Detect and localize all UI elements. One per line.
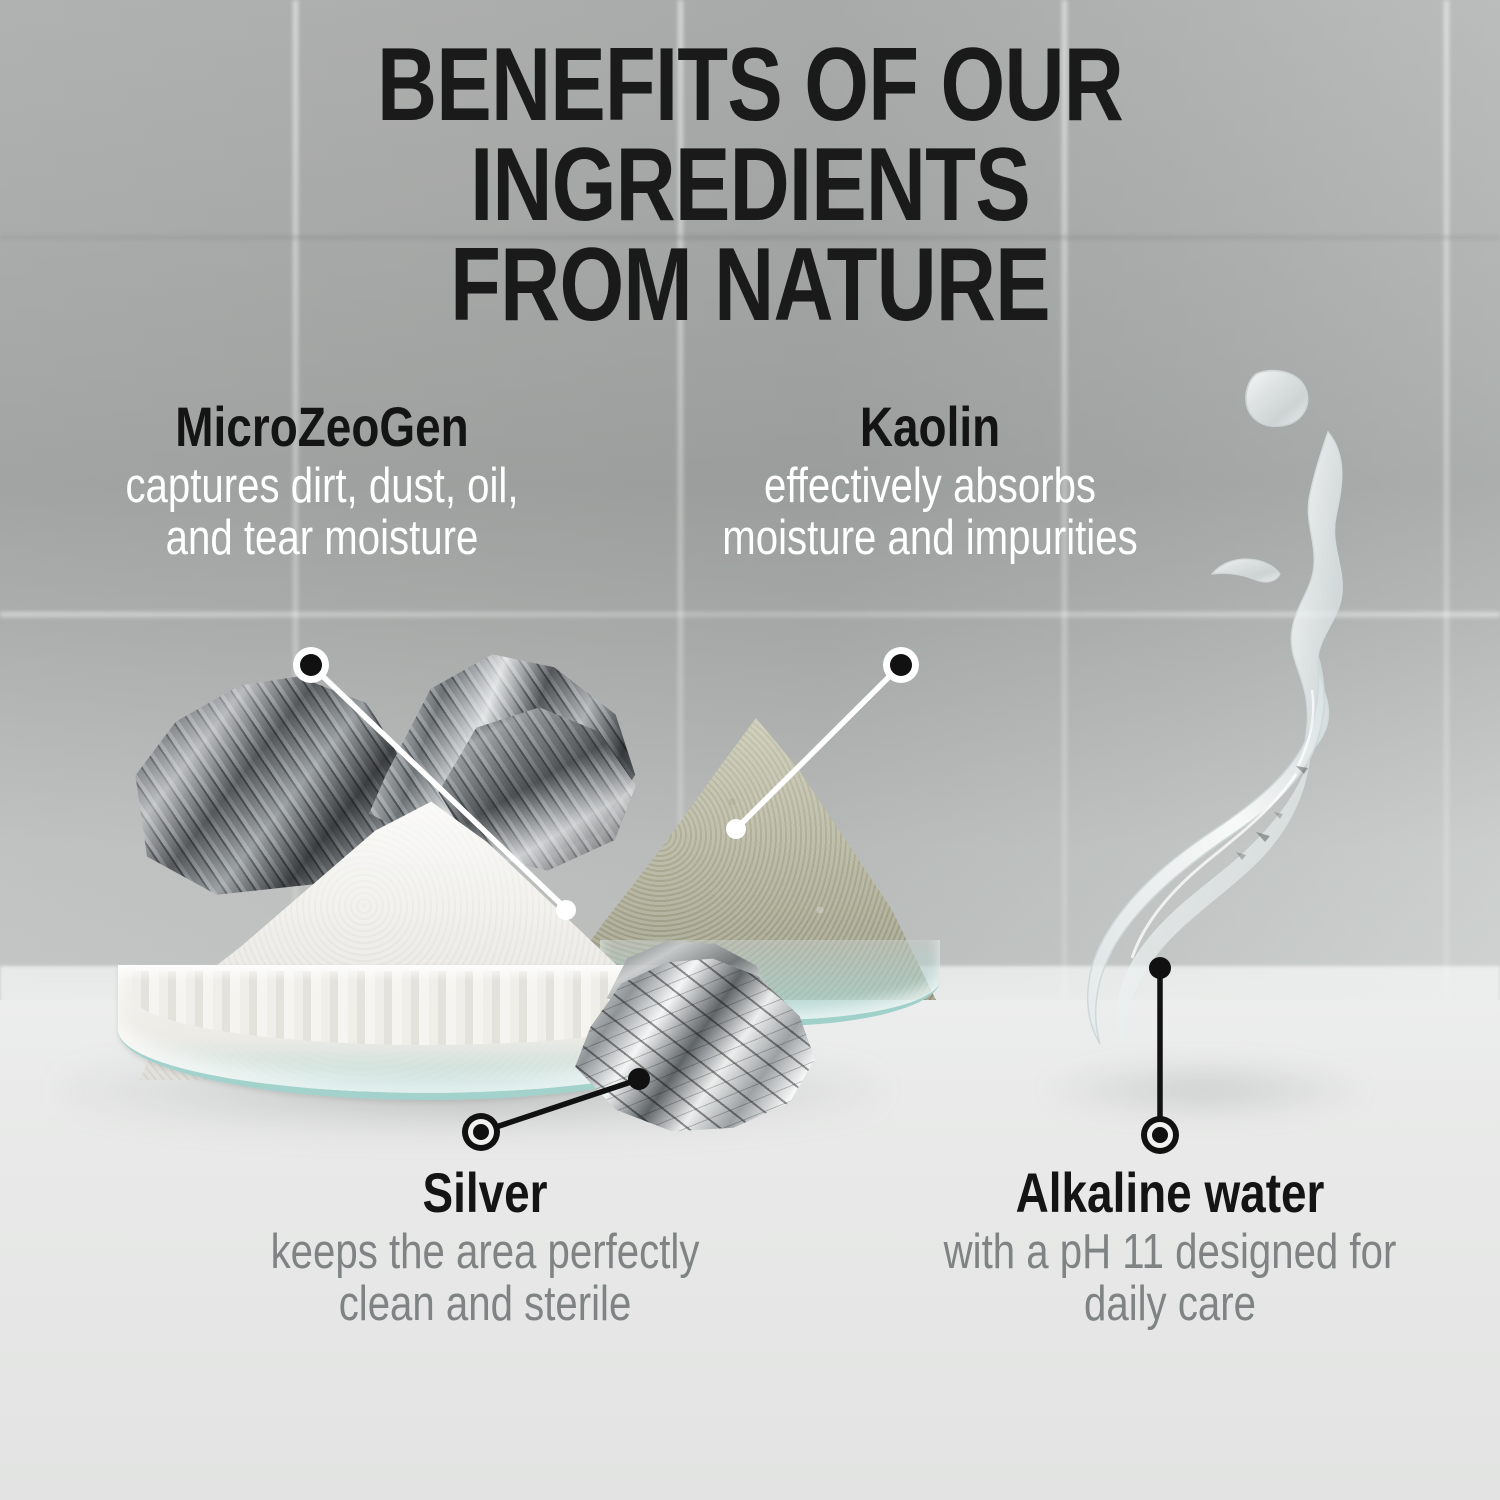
ingredient-block-microzeogen: MicroZeoGen captures dirt, dust, oil, an… xyxy=(22,398,622,565)
ingredient-title: Silver xyxy=(202,1164,768,1221)
ingredient-desc-line1: keeps the area perfectly xyxy=(202,1227,768,1279)
ingredient-desc-line2: clean and sterile xyxy=(202,1279,768,1331)
page-title-line1: BENEFITS OF OUR INGREDIENTS xyxy=(377,27,1123,243)
ingredient-desc-line2: daily care xyxy=(899,1279,1440,1331)
ingredient-block-silver: Silver keeps the area perfectly clean an… xyxy=(140,1164,830,1331)
ingredient-desc-line2: and tear moisture xyxy=(76,513,568,565)
ingredient-block-kaolin: Kaolin effectively absorbs moisture and … xyxy=(610,398,1250,565)
infographic-canvas: BENEFITS OF OUR INGREDIENTS FROM NATURE xyxy=(0,0,1500,1500)
ingredient-title: Alkaline water xyxy=(899,1164,1440,1221)
ingredient-block-alkaline-water: Alkaline water with a pH 11 designed for… xyxy=(840,1164,1500,1331)
page-title: BENEFITS OF OUR INGREDIENTS FROM NATURE xyxy=(150,36,1350,335)
ingredient-desc-line1: effectively absorbs xyxy=(668,461,1193,513)
ingredient-title: MicroZeoGen xyxy=(76,398,568,455)
ingredient-desc-line1: with a pH 11 designed for xyxy=(899,1227,1440,1279)
ingredient-desc-line2: moisture and impurities xyxy=(668,513,1193,565)
page-title-line2: FROM NATURE xyxy=(150,236,1350,336)
ingredient-title: Kaolin xyxy=(668,398,1193,455)
ingredient-desc-line1: captures dirt, dust, oil, xyxy=(76,461,568,513)
